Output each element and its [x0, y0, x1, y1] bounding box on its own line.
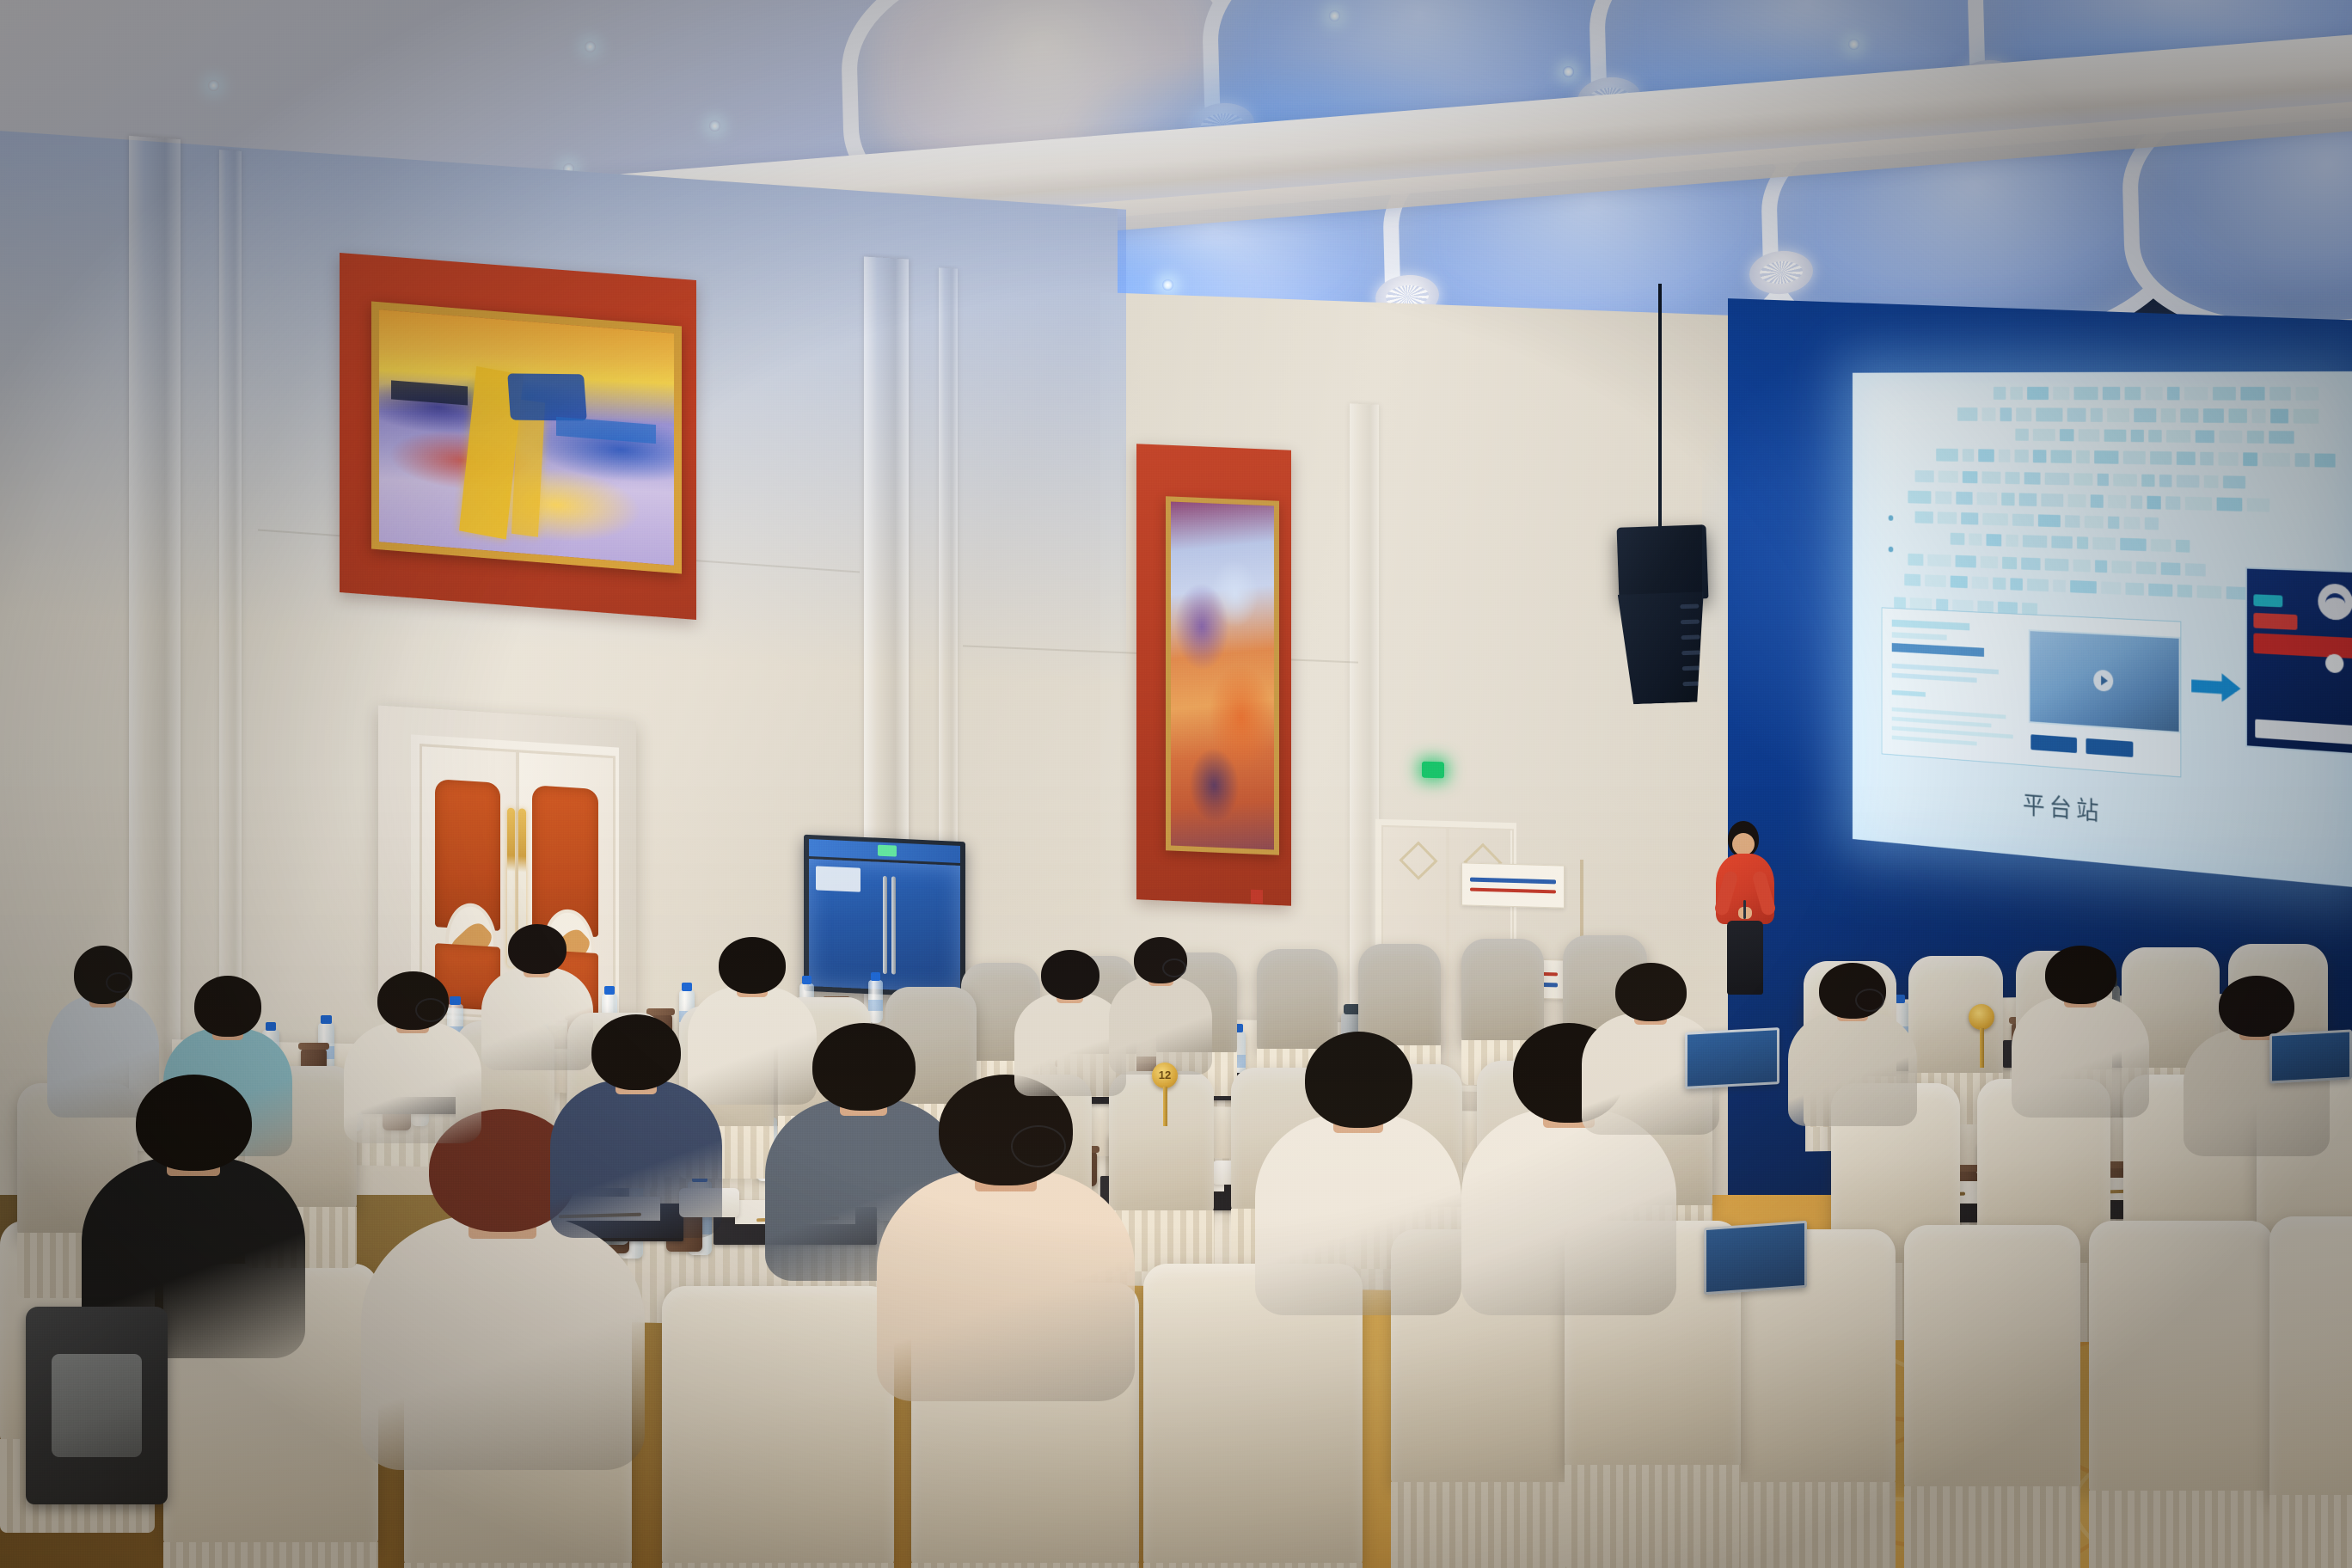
person-head [2219, 976, 2294, 1037]
chair-cover-skirt [1143, 1563, 1363, 1568]
person-torso [1255, 1114, 1461, 1315]
eyeglasses-icon [1855, 989, 1884, 1012]
laptop[interactable] [1704, 1221, 1807, 1295]
eyeglasses-icon [1162, 959, 1186, 977]
person-head [719, 937, 786, 994]
person-torso [344, 1021, 481, 1143]
audience-member [1109, 937, 1212, 1075]
audience-member [1788, 963, 1917, 1126]
banquet-chair[interactable] [2269, 1216, 2352, 1500]
audience-member [344, 971, 481, 1143]
audience-member [550, 1014, 722, 1238]
table-number-stand: 12 [1152, 1063, 1178, 1128]
table-number-label: 12 [1152, 1063, 1178, 1088]
person-head [136, 1075, 252, 1171]
table-number-label [1969, 1004, 1994, 1030]
chair-cover-skirt [2269, 1495, 2352, 1568]
person-torso [361, 1215, 645, 1470]
eyeglasses-icon [415, 998, 446, 1022]
person-torso [2012, 995, 2149, 1118]
banquet-chair[interactable] [662, 1286, 894, 1568]
person-torso [550, 1080, 722, 1238]
person-head [591, 1014, 681, 1090]
chair-cover-skirt [1391, 1482, 1576, 1568]
chair-cover-skirt [662, 1563, 894, 1568]
person-torso [1109, 977, 1212, 1075]
person-torso [1788, 1011, 1917, 1126]
audience-member [2012, 946, 2149, 1118]
chair-cover-skirt [163, 1542, 378, 1568]
chair-cover-skirt [911, 1563, 1139, 1568]
eyeglasses-icon [1011, 1125, 1066, 1167]
banquet-chair[interactable] [1904, 1225, 2080, 1491]
person-head [194, 976, 261, 1037]
table-number-stand [1969, 1004, 1994, 1069]
chair-cover-skirt [2089, 1491, 2274, 1568]
banquet-chair[interactable] [2089, 1221, 2274, 1496]
backpack [26, 1307, 168, 1504]
person-head [1615, 963, 1687, 1021]
person-torso [877, 1170, 1135, 1401]
chair-cover-skirt [1565, 1465, 1741, 1568]
chair-cover-skirt [1904, 1486, 2080, 1568]
audience-member [1255, 1032, 1461, 1315]
laptop[interactable] [1685, 1027, 1779, 1089]
conference-hall-photo: 平台站 [0, 0, 2352, 1568]
person-head [1041, 950, 1099, 1000]
person-torso [1461, 1109, 1676, 1315]
presenter [1716, 821, 1774, 993]
person-head [508, 924, 567, 974]
eyeglasses-icon [106, 972, 132, 993]
person-head [1305, 1032, 1412, 1128]
audience [0, 0, 2352, 1568]
chair-cover-skirt [1728, 1482, 1896, 1568]
laptop[interactable] [2269, 1029, 2352, 1083]
person-head [2045, 946, 2116, 1004]
chair-cover-skirt [404, 1563, 632, 1568]
audience-member [877, 1075, 1135, 1401]
